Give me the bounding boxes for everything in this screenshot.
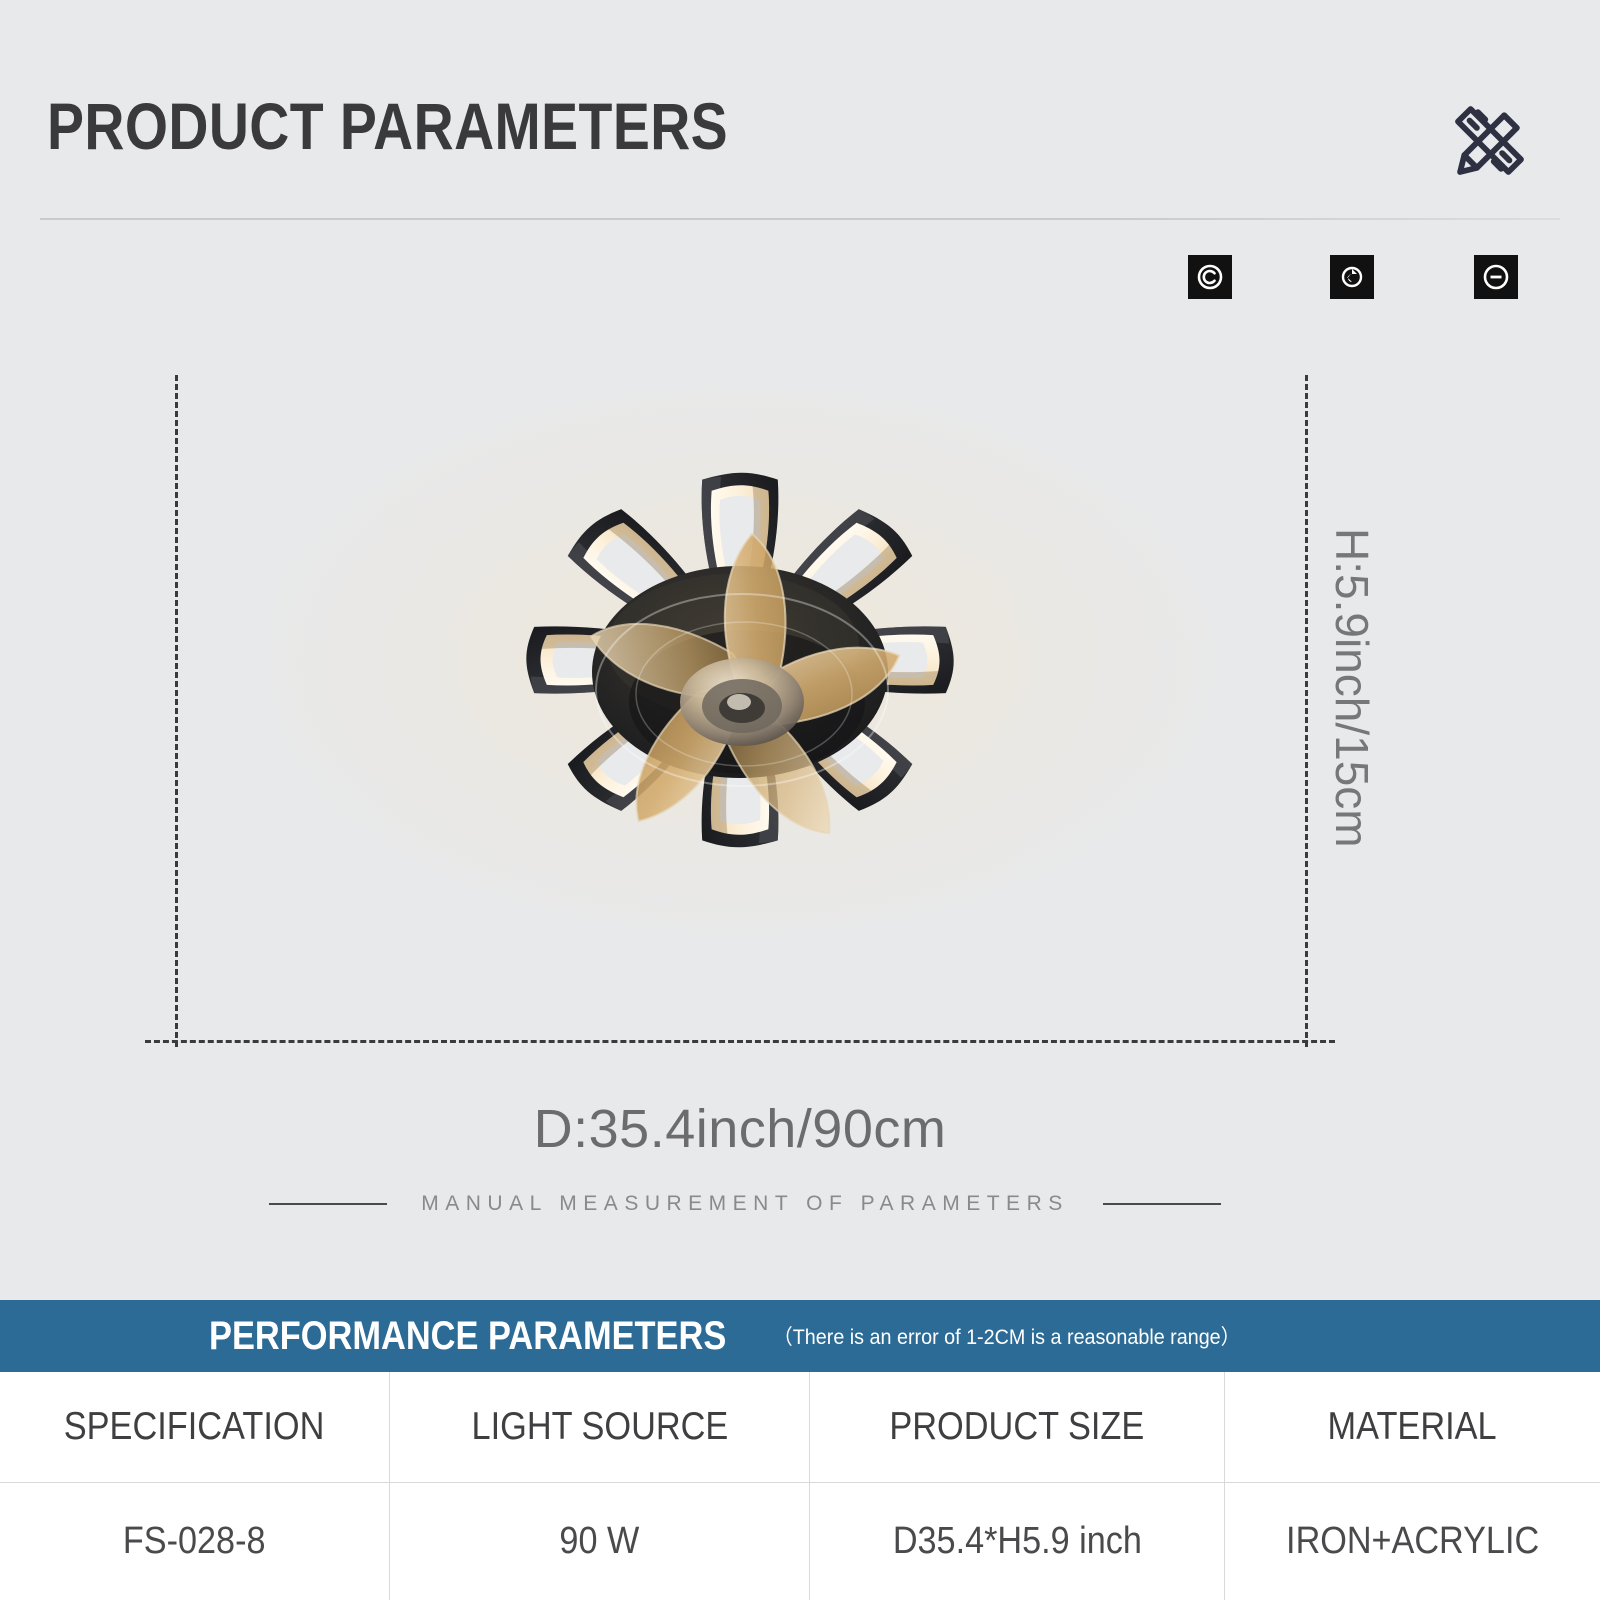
sync-badge [1330,255,1374,299]
value-cell-material: IRON+ACRYLIC [1225,1483,1600,1600]
product-image-flower-ceiling-fan [175,330,1305,990]
header-cell-product-size: PRODUCT SIZE [810,1372,1225,1482]
manual-measurement-caption: MANUAL MEASUREMENT OF PARAMETERS [0,1192,1490,1216]
page-title: PRODUCT PARAMETERS [47,88,728,164]
caption-rule-left [269,1203,387,1205]
table-row: FS-028-8 90 W D35.4*H5.9 inch IRON+ACRYL… [0,1482,1600,1600]
performance-parameters-band: PERFORMANCE PARAMETERS （There is an erro… [0,1300,1600,1372]
copyright-badge [1188,255,1232,299]
table-header-row: SPECIFICATION LIGHT SOURCE PRODUCT SIZE … [0,1372,1600,1482]
fan-center-cap [680,658,804,746]
dimension-line-bottom [145,1040,1335,1043]
header-cell-light-source: LIGHT SOURCE [390,1372,810,1482]
ruler-pencil-icon [1437,88,1542,193]
height-dimension-label: H:5.9inch/15cm [1325,528,1379,848]
value-cell-product-size: D35.4*H5.9 inch [810,1483,1225,1600]
header-cell-material: MATERIAL [1225,1372,1600,1482]
value-cell-light-source: 90 W [390,1483,810,1600]
caption-rule-right [1103,1203,1221,1205]
performance-note: （There is an error of 1-2CM is a reasona… [773,1321,1240,1351]
minus-circle-badge [1474,255,1518,299]
header-cell-specification: SPECIFICATION [0,1372,390,1482]
header-divider [40,218,1560,220]
performance-title: PERFORMANCE PARAMETERS [209,1314,726,1359]
product-parameters-section: PRODUCT PARAMETERS [0,0,1600,1300]
manual-caption-text: MANUAL MEASUREMENT OF PARAMETERS [421,1192,1069,1216]
dimension-line-right [1305,375,1308,1047]
value-cell-specification: FS-028-8 [0,1483,390,1600]
diameter-dimension-label: D:35.4inch/90cm [0,1098,1480,1160]
specification-table: SPECIFICATION LIGHT SOURCE PRODUCT SIZE … [0,1372,1600,1600]
